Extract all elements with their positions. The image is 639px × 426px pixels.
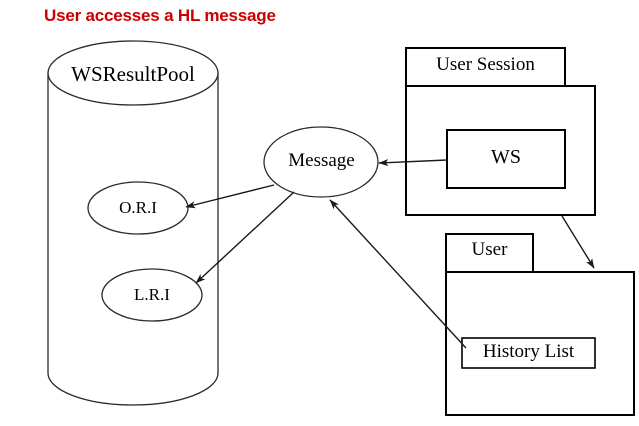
package-user-session-label: User Session <box>406 54 565 76</box>
node-ori-label: O.R.I <box>100 198 176 218</box>
edge-user-session-to-user[interactable] <box>562 216 594 268</box>
node-history-list-label: History List <box>462 341 595 363</box>
package-user-label: User <box>446 239 533 261</box>
datastore-body <box>48 73 218 405</box>
package-user[interactable] <box>446 234 634 415</box>
diagram-canvas: User accesses a HL message WSResultPool … <box>0 0 639 426</box>
node-lri-label: L.R.I <box>114 285 190 305</box>
node-ws-label: WS <box>447 146 565 169</box>
node-message-label: Message <box>265 150 378 172</box>
datastore-label: WSResultPool <box>48 62 218 87</box>
diagram-title: User accesses a HL message <box>44 6 276 26</box>
